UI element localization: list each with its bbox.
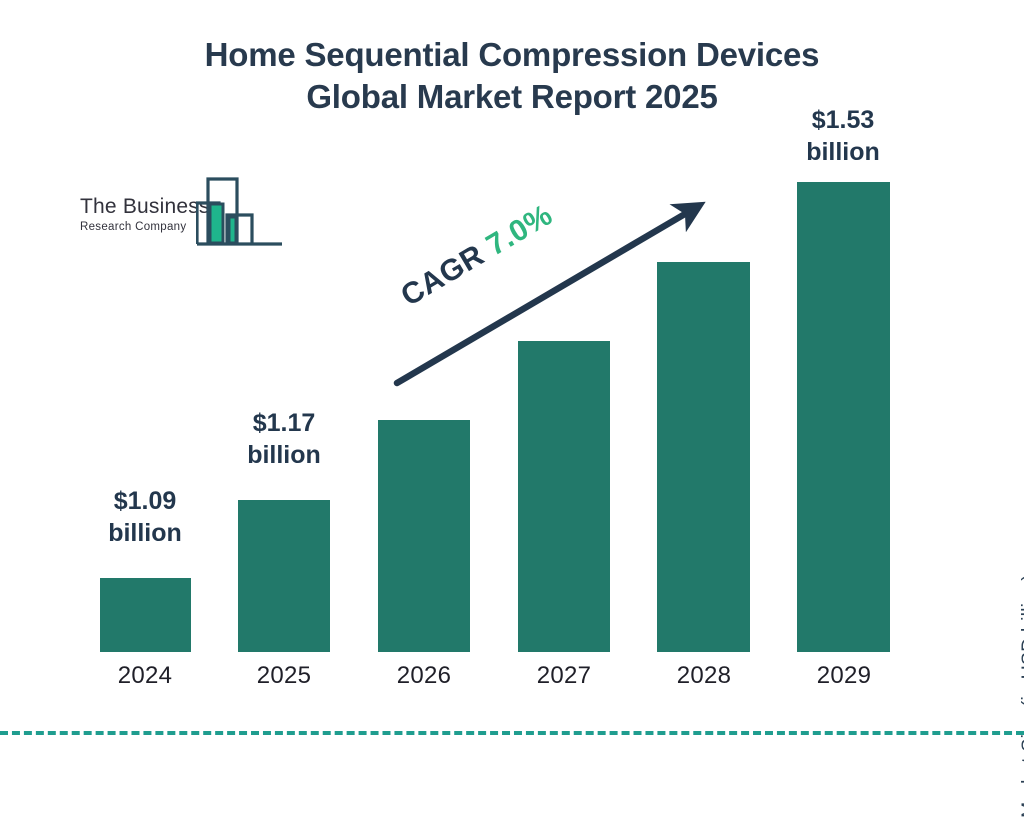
bar-value-label-2024: $1.09 billion xyxy=(55,485,235,549)
bar-2025 xyxy=(238,500,330,652)
bar-value-label-2029-line2: billion xyxy=(753,136,933,168)
bar-2028 xyxy=(657,262,750,652)
bar-value-label-2025: $1.17 billion xyxy=(194,407,374,471)
bar-2024 xyxy=(100,578,191,652)
cagr-annotation: CAGR 7.0% xyxy=(395,198,558,313)
footer-divider xyxy=(0,731,1024,735)
xtick-2026: 2026 xyxy=(364,662,484,690)
bar-value-label-2025-line2: billion xyxy=(194,439,374,471)
bar-value-label-2029: $1.53 billion xyxy=(753,104,933,168)
xtick-2029: 2029 xyxy=(784,662,904,690)
bar-chart-plot: $1.09 billion $1.17 billion $1.53 billio… xyxy=(0,0,1024,768)
bar-value-label-2029-line1: $1.53 xyxy=(753,104,933,136)
bar-2029 xyxy=(797,182,890,652)
xtick-2028: 2028 xyxy=(644,662,764,690)
bar-2027 xyxy=(518,341,610,652)
cagr-label: CAGR xyxy=(395,238,490,312)
bar-value-label-2025-line1: $1.17 xyxy=(194,407,374,439)
bar-2026 xyxy=(378,420,470,652)
xtick-2027: 2027 xyxy=(504,662,624,690)
xtick-2024: 2024 xyxy=(85,662,205,690)
bar-value-label-2024-line2: billion xyxy=(55,517,235,549)
bar-value-label-2024-line1: $1.09 xyxy=(55,485,235,517)
cagr-value: 7.0% xyxy=(481,198,558,262)
xtick-2025: 2025 xyxy=(224,662,344,690)
chart-canvas: Home Sequential Compression Devices Glob… xyxy=(0,0,1024,768)
y-axis-label: Market Size (in USD billion) xyxy=(1018,574,1024,818)
